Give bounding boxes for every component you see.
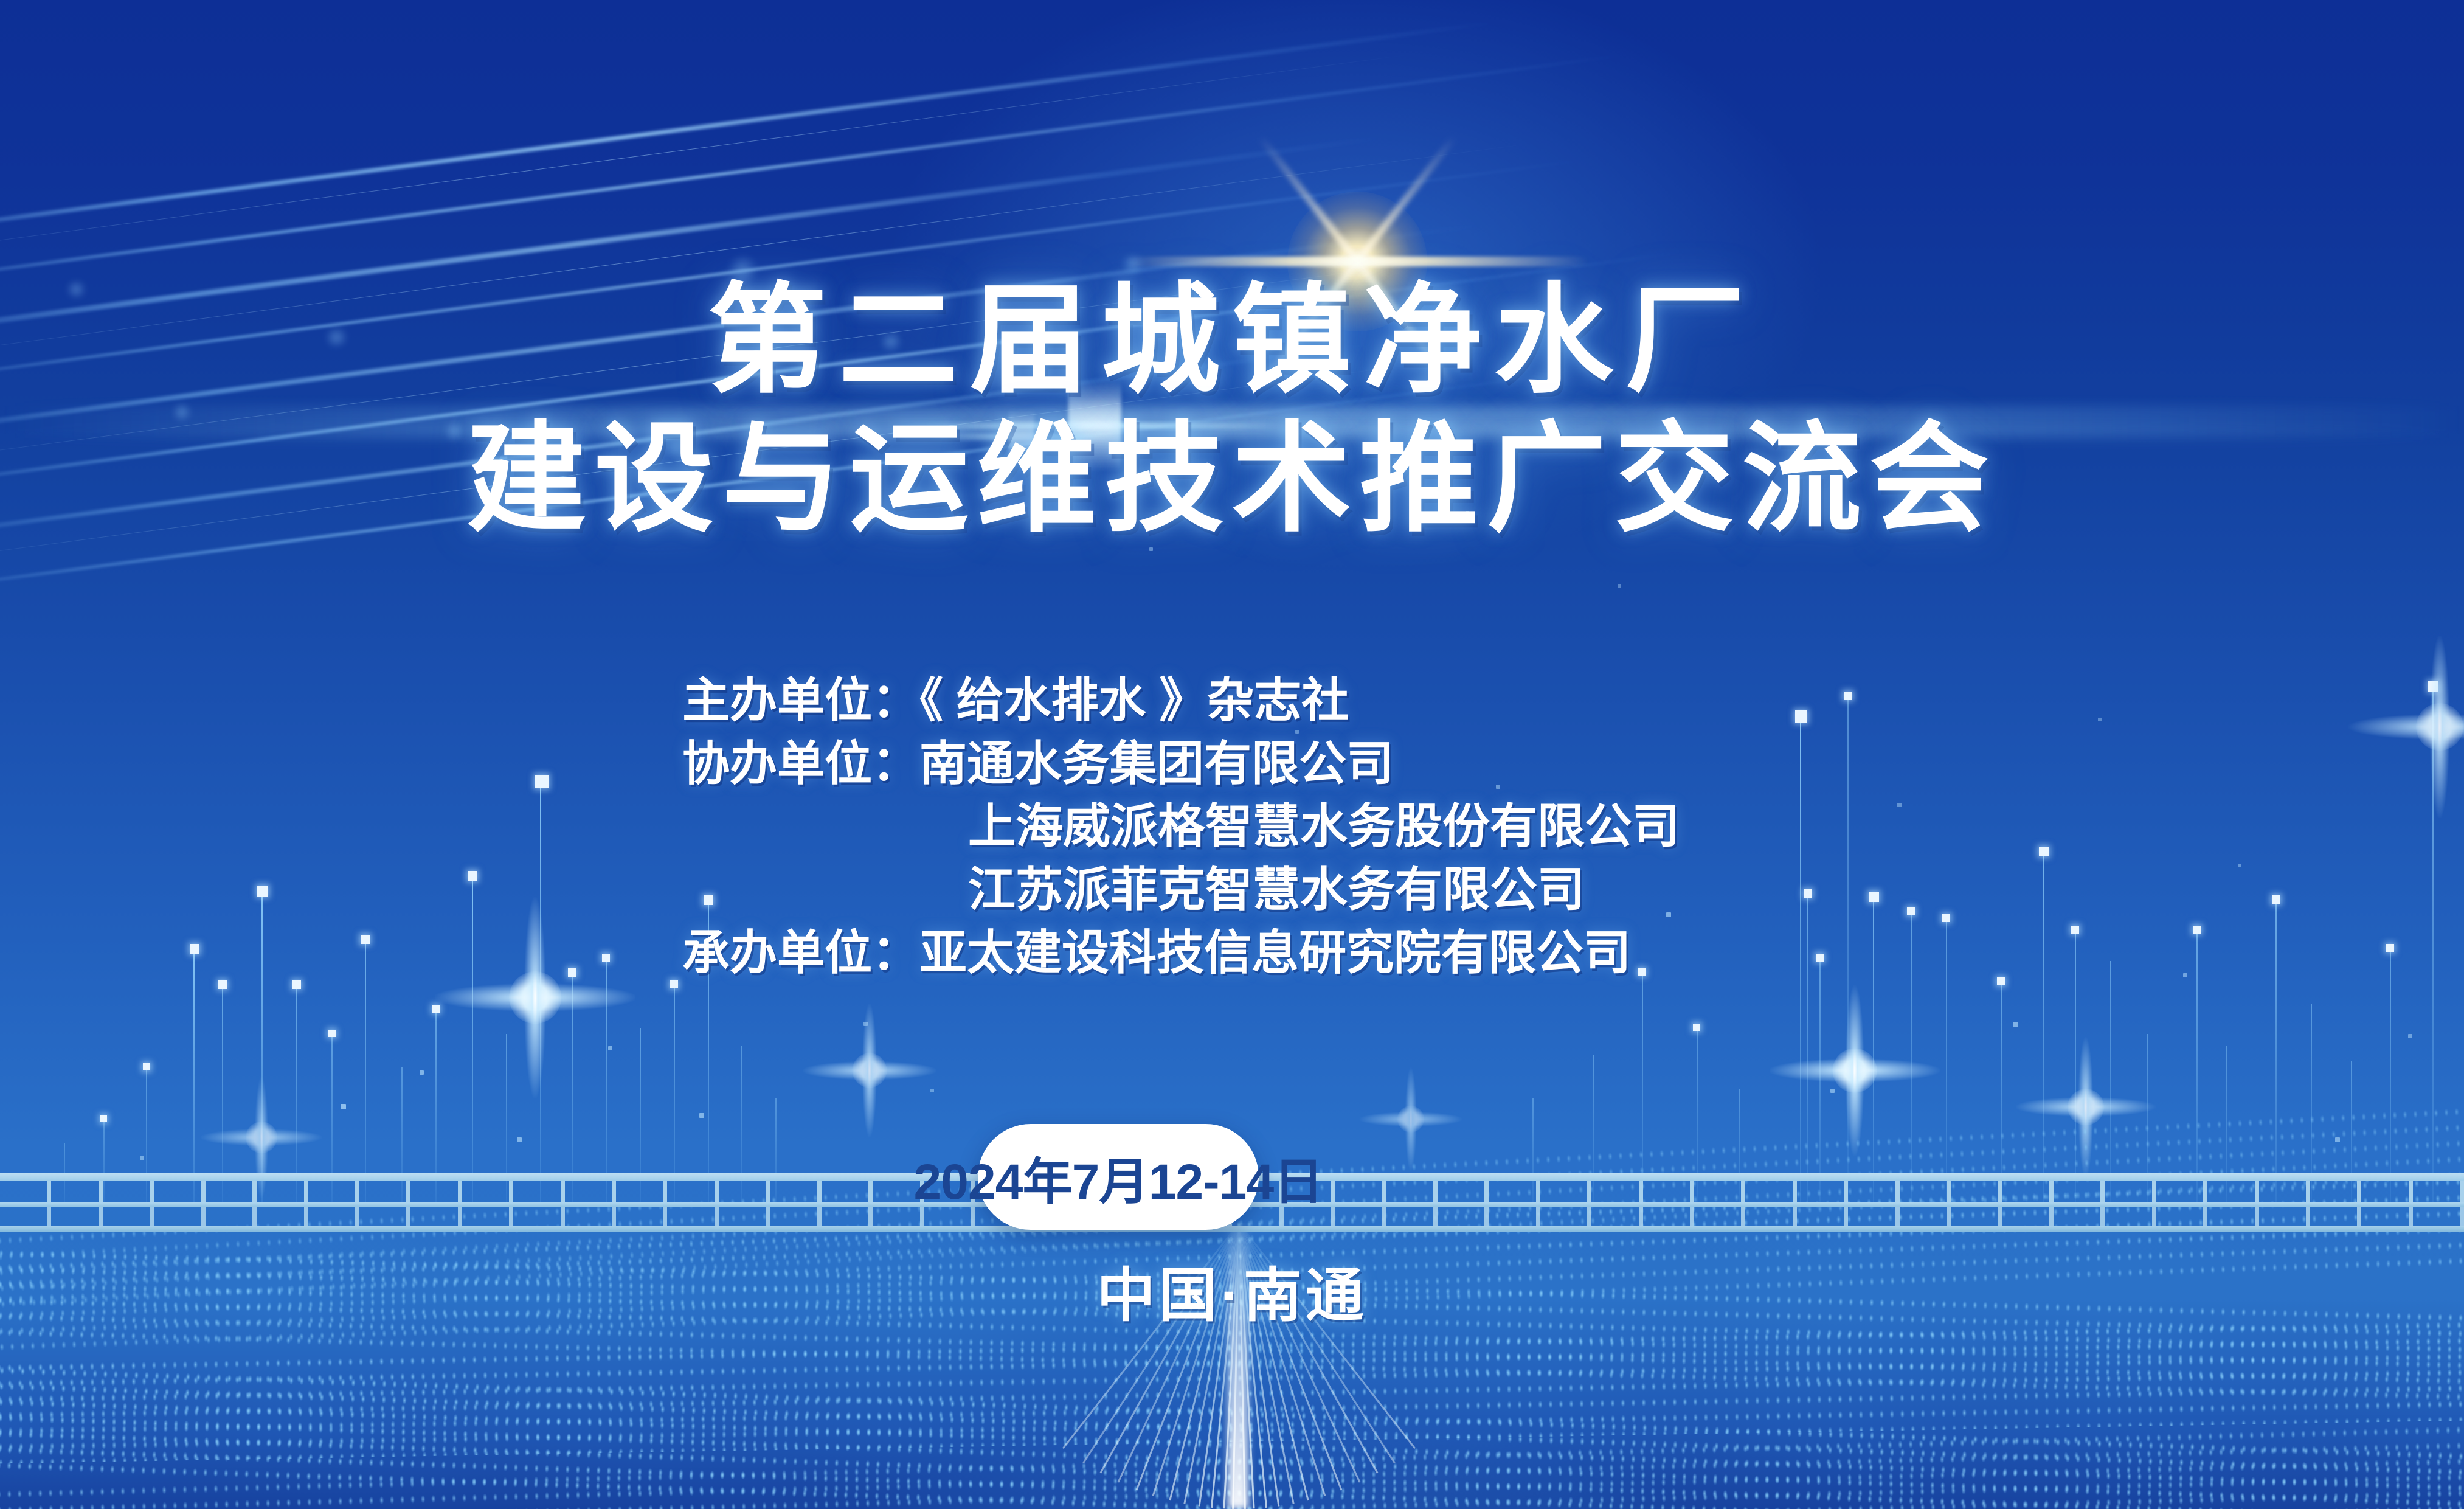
organizer-line-coorganizer-1: 协办单位：南通水务集团有限公司 [682, 732, 1959, 796]
organizer-line-coorganizer-2: 上海威派格智慧水务股份有限公司 [682, 795, 1959, 858]
organizer-block: 主办单位：《 给水排水 》杂志社 协办单位：南通水务集团有限公司 上海威派格智慧… [682, 669, 1959, 985]
organizer-line-host: 主办单位：《 给水排水 》杂志社 [682, 669, 1959, 732]
organizer-line-undertaker: 承办单位：亚太建设科技信息研究院有限公司 [682, 921, 1959, 985]
date-badge-label: 2024年7月12-14日 [913, 1141, 1323, 1213]
poster-title-line-1: 第二届城镇净水厂 [0, 281, 2464, 400]
poster-content: 第二届城镇净水厂 建设与运维技术推广交流会 主办单位：《 给水排水 》杂志社 协… [0, 0, 2464, 1509]
poster-title-line-2: 建设与运维技术推广交流会 [0, 420, 2464, 539]
poster-canvas: 第二届城镇净水厂 建设与运维技术推广交流会 主办单位：《 给水排水 》杂志社 协… [0, 0, 2464, 1509]
date-badge: 2024年7月12-14日 [978, 1124, 1259, 1230]
organizer-line-coorganizer-3: 江苏派菲克智慧水务有限公司 [682, 858, 1959, 921]
location-label: 中国·南通 [0, 1248, 2464, 1333]
